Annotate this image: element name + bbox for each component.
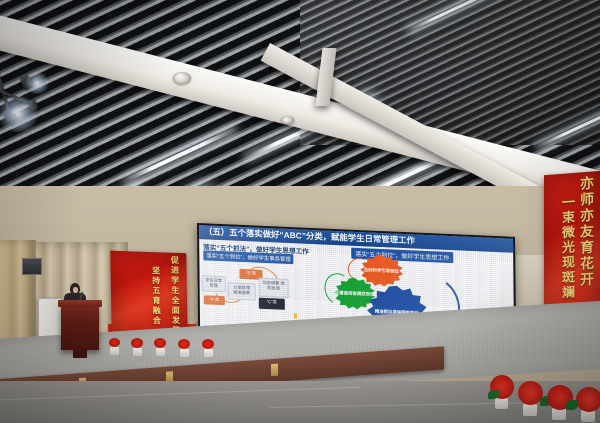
ceiling-speaker-1: [173, 72, 191, 84]
bloom-l1: [109, 338, 120, 347]
pot-l2: [133, 348, 142, 356]
pot-l4: [180, 349, 189, 357]
banner-left-line2: 坚持五育融合: [151, 266, 163, 326]
leaf-r1: [488, 390, 499, 399]
bloom-l4: [178, 339, 190, 349]
flow-box-center: 分类管理 精准施策: [228, 282, 256, 300]
flow-box-right: 动态调整 跟踪反馈: [259, 278, 289, 298]
pot-r1: [495, 398, 508, 409]
wall-mounted-unit: [22, 258, 42, 275]
pot-r2: [523, 404, 537, 416]
bloom-l3: [154, 338, 166, 348]
pot-l5: [204, 349, 213, 357]
bloom-r4: [576, 387, 600, 412]
pot-l3: [156, 348, 165, 356]
podium-base: [73, 340, 87, 358]
bloom-l5: [202, 339, 214, 349]
bloom-l2: [131, 338, 143, 348]
banner-right-line2: 一束微光现斑斓: [557, 195, 576, 301]
leaf-r3: [566, 400, 578, 410]
flow-box-dark: “C”类: [259, 298, 285, 310]
flow-box-left: 学生日常管理: [202, 275, 226, 292]
edge-plate-4: [271, 363, 278, 376]
wood-wall-panel: [0, 240, 36, 350]
podium-top-surface: [58, 300, 102, 307]
slide-yellow-marker: [294, 313, 297, 318]
floor-seam-1: [0, 387, 360, 401]
banner-left-line1: 促进学生全面发展: [170, 255, 182, 335]
banner-right-line1: 亦师亦友育花开: [576, 176, 596, 290]
light-flare-2: [24, 72, 50, 94]
flow-box-orange-bottom: “A”类: [204, 295, 225, 305]
wooden-podium: [61, 304, 99, 350]
pot-l1: [110, 347, 119, 355]
auditorium-photo: 亦师亦友育花开 一束微光现斑斓 促进学生全面发展 坚持五育融合 （五）五个落实做…: [0, 0, 600, 423]
